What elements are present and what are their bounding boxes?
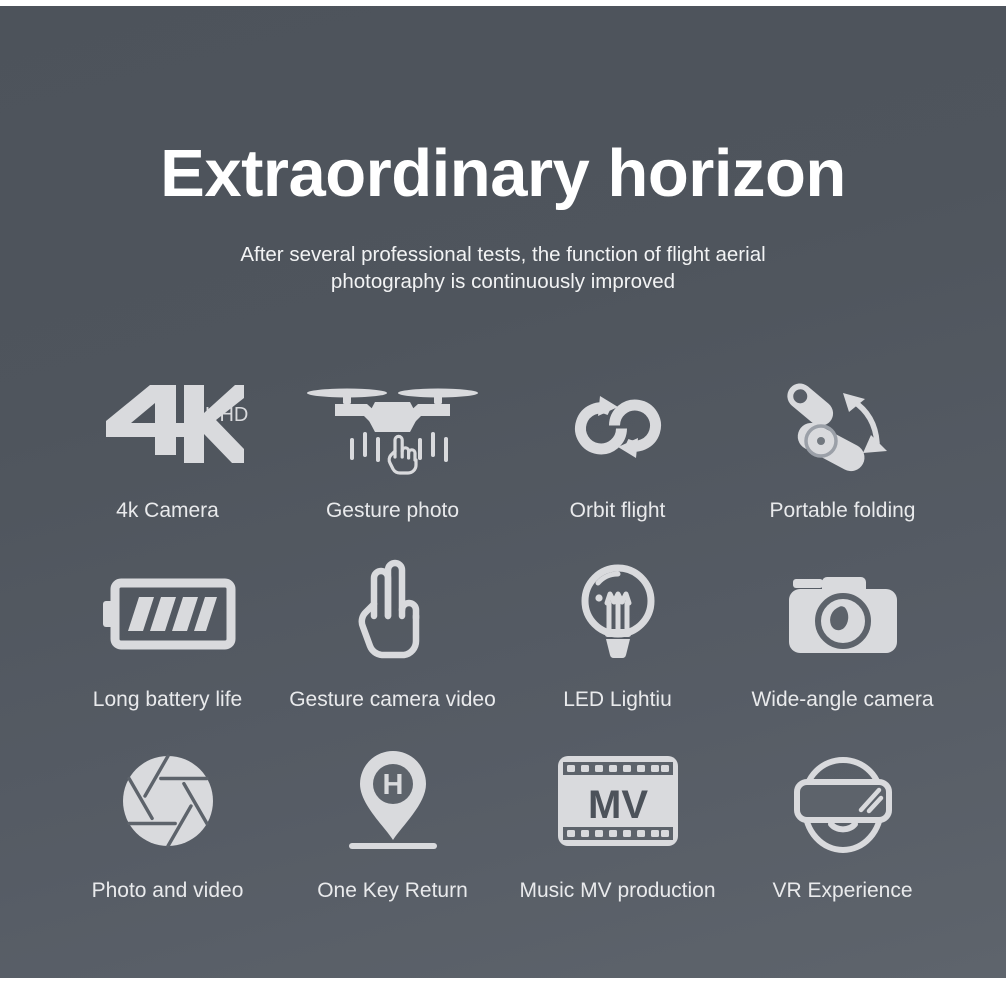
aperture-icon <box>122 742 214 860</box>
feature-label: Long battery life <box>93 689 242 710</box>
feature-item-portable-folding[interactable]: Portable folding <box>730 368 955 555</box>
feature-label: 4k Camera <box>116 500 219 521</box>
film-strip-icon: MV <box>557 742 679 860</box>
hand-two-fingers-icon <box>350 555 436 673</box>
feature-label: Gesture camera video <box>289 689 496 710</box>
feature-banner: Extraordinary horizon After several prof… <box>0 6 1006 978</box>
4k-uhd-sub-text: UHD <box>205 404 248 426</box>
subtitle-line-2: photography is continuously improved <box>0 268 1006 295</box>
4k-uhd-icon: UHD <box>92 368 244 486</box>
feature-item-one-key-return[interactable]: H One Key Return <box>280 742 505 929</box>
feature-item-orbit-flight[interactable]: Orbit flight <box>505 368 730 555</box>
feature-label: Photo and video <box>92 880 244 901</box>
map-pin-letter: H <box>382 769 403 801</box>
feature-label: Portable folding <box>770 500 916 521</box>
folding-arm-icon <box>783 368 903 486</box>
feature-label: One Key Return <box>317 880 468 901</box>
product-feature-banner-page: Extraordinary horizon After several prof… <box>0 0 1006 1006</box>
feature-item-music-mv-production[interactable]: MV Music MV production <box>505 742 730 929</box>
feature-label: Gesture photo <box>326 500 459 521</box>
feature-item-led-light[interactable]: LED Lightiu <box>505 555 730 742</box>
page-subtitle: After several professional tests, the fu… <box>0 241 1006 295</box>
drone-hand-gesture-icon <box>305 368 480 486</box>
dslr-camera-icon <box>787 555 899 673</box>
feature-item-long-battery-life[interactable]: Long battery life <box>55 555 280 742</box>
feature-grid: UHD 4k Camera <box>55 368 955 929</box>
feature-item-4k-camera[interactable]: UHD 4k Camera <box>55 368 280 555</box>
feature-label: LED Lightiu <box>563 689 672 710</box>
feature-item-gesture-camera-video[interactable]: Gesture camera video <box>280 555 505 742</box>
feature-label: Wide-angle camera <box>751 689 933 710</box>
page-title: Extraordinary horizon <box>0 139 1006 209</box>
light-bulb-icon <box>576 555 660 673</box>
feature-label: VR Experience <box>772 880 912 901</box>
film-strip-text: MV <box>588 783 648 827</box>
map-pin-home-icon: H <box>341 742 445 860</box>
feature-item-vr-experience[interactable]: VR Experience <box>730 742 955 929</box>
feature-item-wide-angle-camera[interactable]: Wide-angle camera <box>730 555 955 742</box>
feature-label: Music MV production <box>519 880 715 901</box>
feature-item-photo-and-video[interactable]: Photo and video <box>55 742 280 929</box>
battery-icon <box>103 555 233 673</box>
orbit-infinity-arrows-icon <box>566 368 670 486</box>
subtitle-line-1: After several professional tests, the fu… <box>240 243 765 266</box>
feature-item-gesture-photo[interactable]: Gesture photo <box>280 368 505 555</box>
vr-headset-icon <box>793 742 893 860</box>
feature-label: Orbit flight <box>570 500 666 521</box>
